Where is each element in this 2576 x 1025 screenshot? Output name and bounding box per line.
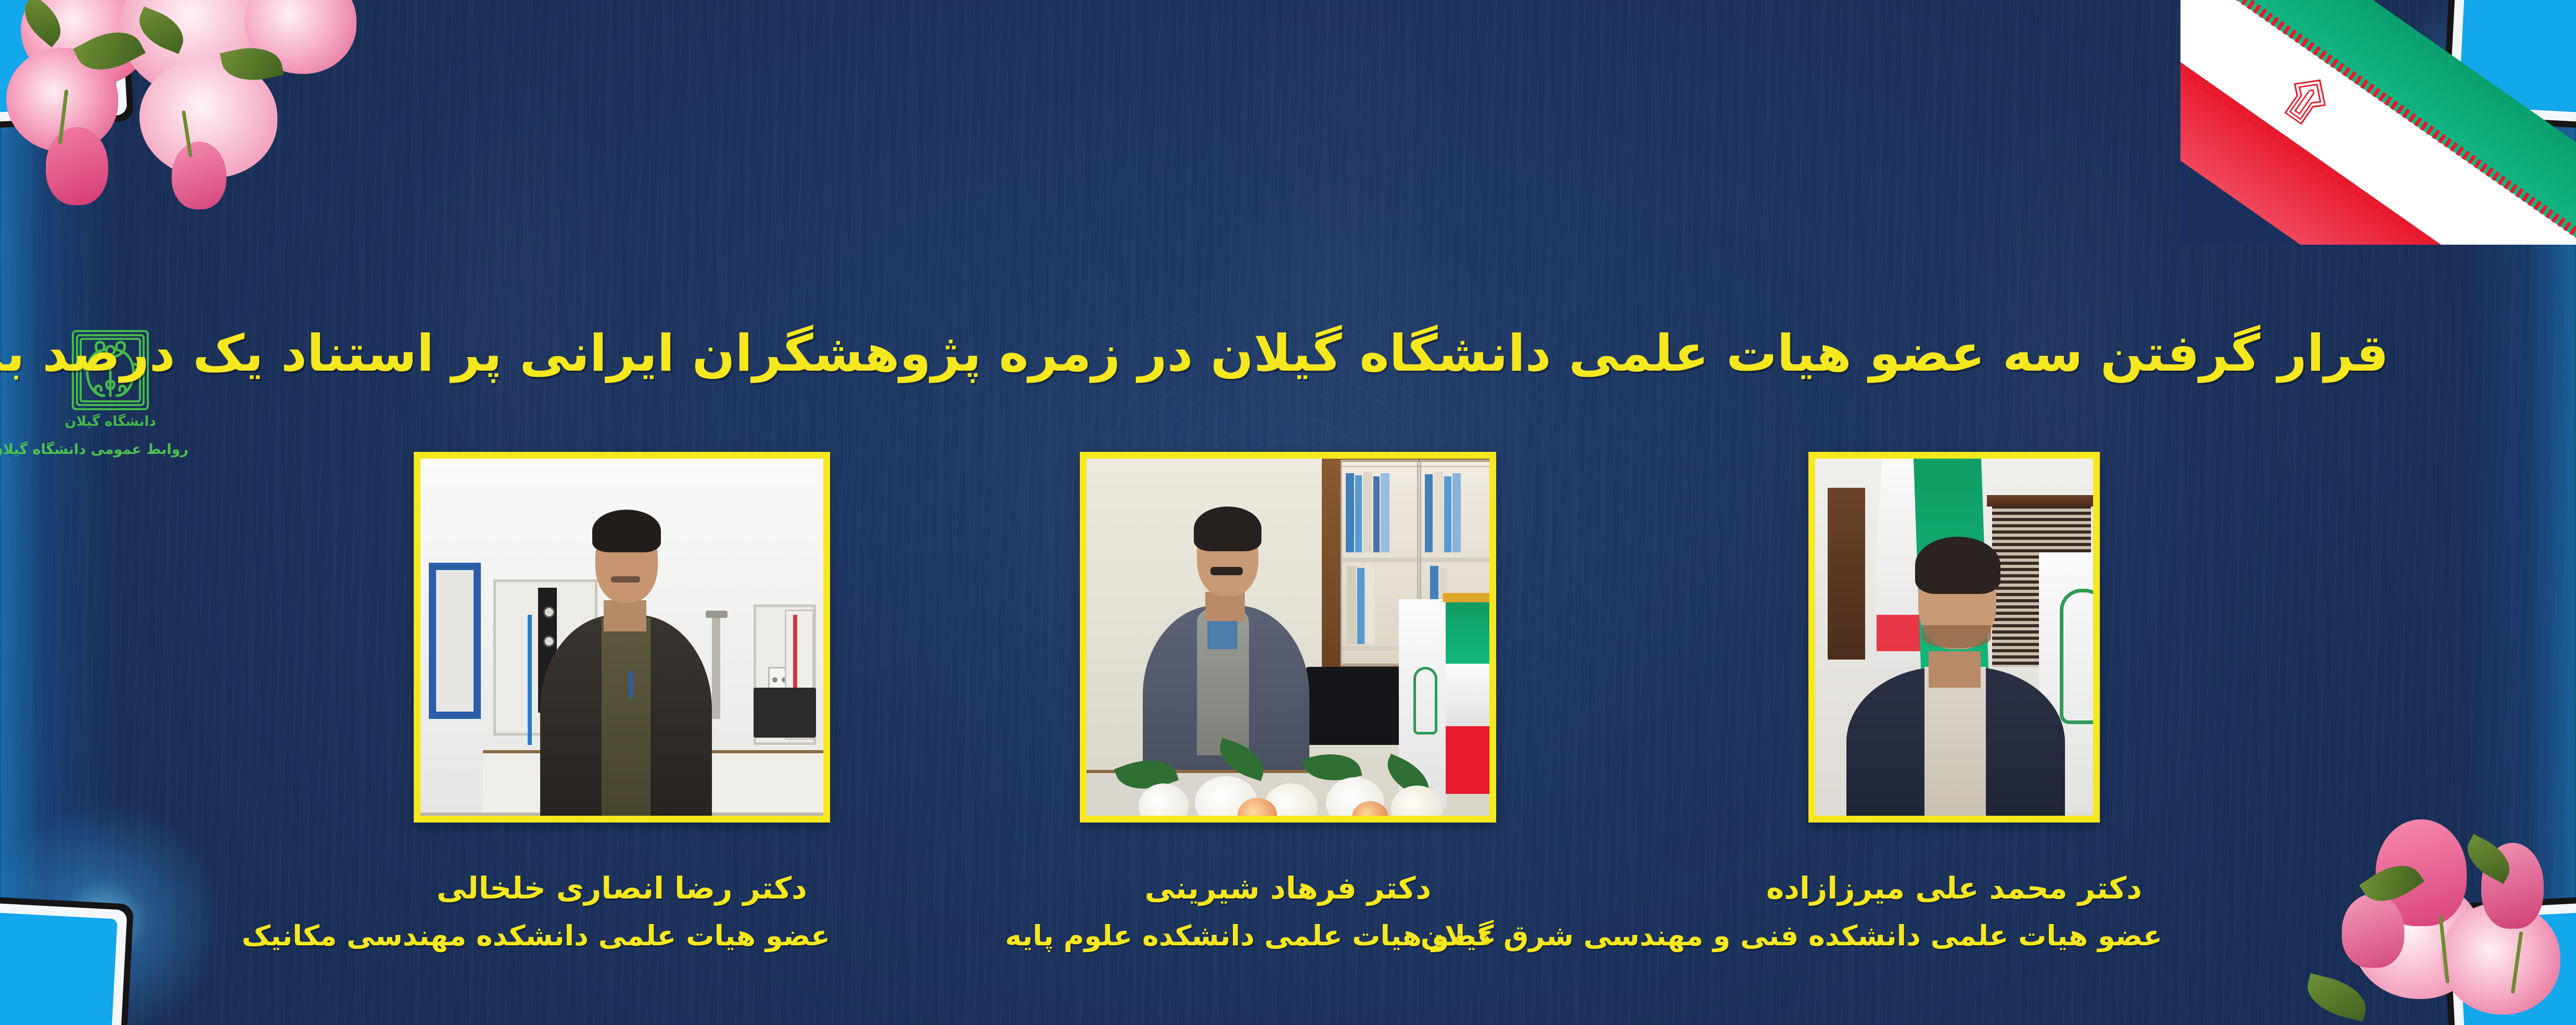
photo-frame-1 — [1808, 452, 2100, 822]
photo-frame-2 — [1080, 452, 1496, 822]
person-card-1 — [1746, 452, 2162, 822]
person-caption-2: دکتر فرهاد شیرینی عضو هیات علمی دانشکده … — [1080, 852, 1496, 952]
emblem-caption-text: دانشگاه گیلان — [65, 413, 156, 429]
page-title: قرار گرفتن سه عضو هیات علمی دانشگاه گیلا… — [0, 325, 2576, 382]
person-caption-3: دکتر رضا انصاری خلخالی عضو هیات علمی دان… — [414, 852, 830, 952]
person-card-2 — [1080, 452, 1496, 822]
photo-frame-3 — [414, 452, 830, 822]
person-role-3: عضو هیات علمی دانشکده مهندسی مکانیک — [414, 919, 830, 952]
person-role-2: عضو هیات علمی دانشکده علوم پایه — [1080, 919, 1496, 952]
portrait-reza-ansari-khalkhali — [420, 459, 823, 816]
portrait-mohammad-ali-mirzazadeh — [1815, 459, 2093, 816]
iran-flag-corner: ۩ — [2180, 0, 2576, 245]
bracket-cyan — [0, 0, 118, 112]
person-caption-1: دکتر محمد علی میرزازاده عضو هیات علمی دا… — [1746, 852, 2162, 952]
flag-band: ۩ — [2180, 0, 2576, 245]
person-name-3: دکتر رضا انصاری خلخالی — [414, 870, 830, 906]
people-caption-row: دکتر محمد علی میرزازاده عضو هیات علمی دا… — [0, 852, 2576, 952]
people-photo-row — [0, 452, 2576, 822]
corner-bracket-top-left — [0, 0, 134, 129]
person-name-1: دکتر محمد علی میرزازاده — [1746, 870, 2162, 906]
person-card-3 — [414, 452, 830, 822]
portrait-farhad-shirini — [1087, 459, 1489, 816]
person-role-1: عضو هیات علمی دانشکده فنی و مهندسی شرق گ… — [1746, 919, 2162, 952]
person-name-2: دکتر فرهاد شیرینی — [1080, 870, 1496, 906]
banner-root: ۩ — [0, 0, 2576, 1025]
